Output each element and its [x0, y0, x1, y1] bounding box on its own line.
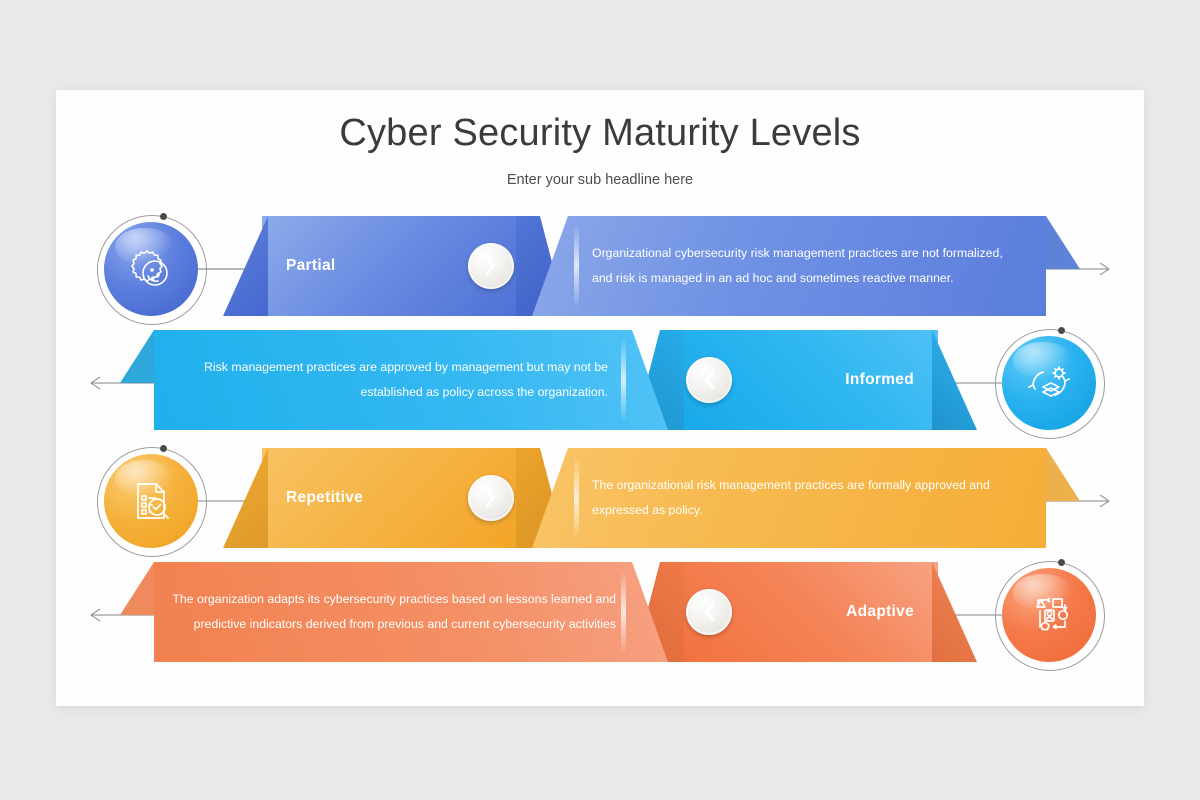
badge-repetitive[interactable]	[104, 454, 198, 548]
level-description-partial: Organizational cybersecurity risk manage…	[592, 216, 1012, 316]
chevron-left-icon-informed[interactable]	[686, 357, 732, 403]
slide-canvas: Cyber Security Maturity Levels Enter you…	[56, 90, 1144, 706]
label-panel-repetitive: Repetitive	[262, 448, 538, 548]
level-label-informed: Informed	[845, 330, 914, 430]
adaptive-process-icon	[1025, 591, 1073, 639]
panel-sheen	[574, 456, 579, 540]
level-label-partial: Partial	[286, 216, 336, 316]
level-description-repetitive: The organizational risk management pract…	[592, 448, 1022, 548]
label-panel-informed: Informed	[662, 330, 938, 430]
level-label-repetitive: Repetitive	[286, 448, 363, 548]
chevron-right-icon-partial[interactable]	[468, 243, 514, 289]
seal-badge-icon	[127, 245, 175, 293]
maturity-row-partial: Partial Organizational cybersecurity ris…	[56, 210, 1144, 328]
chevron-left-icon-adaptive[interactable]	[686, 589, 732, 635]
layers-gear-icon	[1025, 359, 1073, 407]
panel-sheen	[621, 570, 626, 654]
badge-informed[interactable]	[1002, 336, 1096, 430]
label-panel-partial: Partial	[262, 216, 538, 316]
badge-ring-dot	[1058, 327, 1065, 334]
badge-adaptive[interactable]	[1002, 568, 1096, 662]
desc-panel-adaptive: The organization adapts its cybersecurit…	[154, 562, 668, 662]
maturity-row-adaptive: Adaptive The organization adapts its cyb…	[56, 556, 1144, 674]
page-subtitle: Enter your sub headline here	[56, 172, 1144, 188]
desc-panel-repetitive: The organizational risk management pract…	[532, 448, 1046, 548]
maturity-row-informed: Informed Risk management practices are a…	[56, 324, 1144, 442]
level-label-adaptive: Adaptive	[846, 562, 914, 662]
panel-sheen	[621, 338, 626, 422]
badge-ring-dot	[160, 445, 167, 452]
page-title: Cyber Security Maturity Levels	[56, 112, 1144, 155]
badge-partial[interactable]	[104, 222, 198, 316]
desc-panel-partial: Organizational cybersecurity risk manage…	[532, 216, 1046, 316]
chevron-right-icon-repetitive[interactable]	[468, 475, 514, 521]
badge-ring-dot	[160, 213, 167, 220]
badge-ring-dot	[1058, 559, 1065, 566]
document-search-icon	[127, 477, 175, 525]
panel-sheen	[574, 224, 579, 308]
level-description-informed: Risk management practices are approved b…	[188, 330, 608, 430]
maturity-row-repetitive: Repetitive The organizational risk manag…	[56, 442, 1144, 560]
desc-panel-informed: Risk management practices are approved b…	[154, 330, 668, 430]
label-panel-adaptive: Adaptive	[662, 562, 938, 662]
level-description-adaptive: The organization adapts its cybersecurit…	[166, 562, 616, 662]
